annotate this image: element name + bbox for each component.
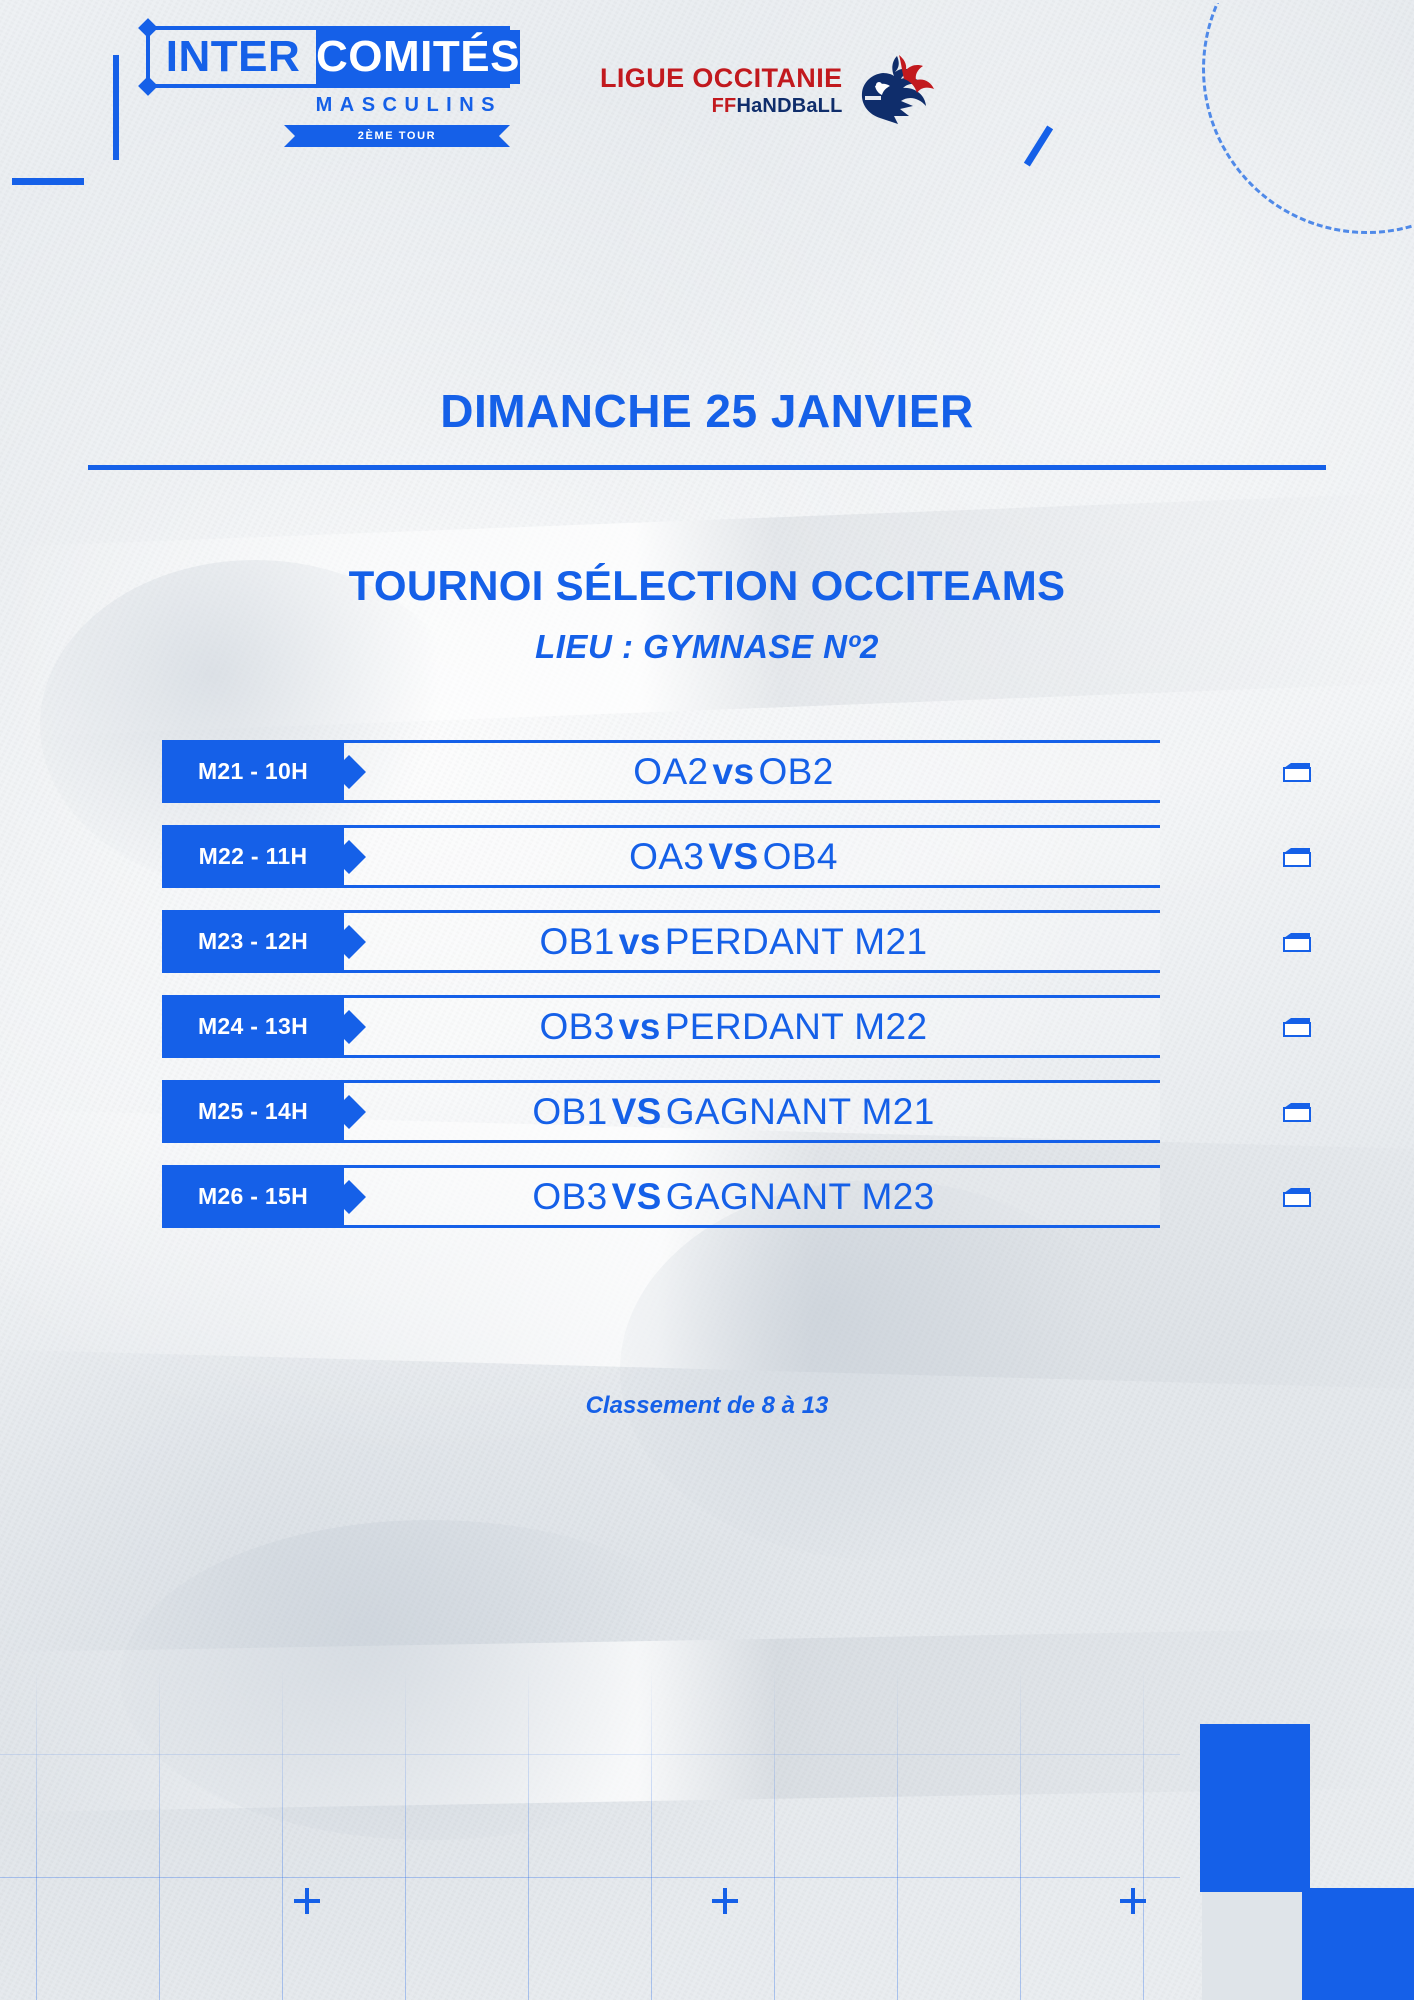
flag-icon xyxy=(1282,929,1312,955)
flag-icon xyxy=(1282,1014,1312,1040)
page-title: DIMANCHE 25 JANVIER xyxy=(0,384,1414,438)
match-row: M24 - 13HOB3vsPERDANT M22 xyxy=(162,995,1258,1058)
match-code-badge: M25 - 14H xyxy=(162,1080,344,1143)
flag-icon xyxy=(1282,1184,1312,1210)
match-row: M26 - 15HOB3VSGAGNANT M23 xyxy=(162,1165,1258,1228)
match-teams: OB3vsPERDANT M22 xyxy=(307,995,1160,1058)
match-row: M21 - 10HOA2vsOB2 xyxy=(162,740,1258,803)
match-team-a: OA3 xyxy=(629,836,704,878)
ffhandball-label: FFHaNDBaLL xyxy=(600,96,843,116)
match-team-b: PERDANT M21 xyxy=(665,921,928,963)
match-team-b: GAGNANT M21 xyxy=(666,1091,935,1133)
ranking-footnote: Classement de 8 à 13 xyxy=(0,1392,1414,1420)
match-teams: OA3VSOB4 xyxy=(307,825,1160,888)
match-code-badge: M24 - 13H xyxy=(162,995,344,1058)
match-vs-label: vs xyxy=(615,1006,665,1048)
match-vs-label: VS xyxy=(608,1176,666,1218)
match-team-a: OB3 xyxy=(539,1006,614,1048)
decorative-square xyxy=(1302,1888,1414,2000)
match-team-b: OB2 xyxy=(758,751,833,793)
match-team-a: OB1 xyxy=(539,921,614,963)
match-vs-label: vs xyxy=(709,751,759,793)
logo-word-comites: COMITÉS xyxy=(316,30,520,84)
match-vs-label: vs xyxy=(615,921,665,963)
match-row: M22 - 11HOA3VSOB4 xyxy=(162,825,1258,888)
match-team-a: OB3 xyxy=(532,1176,607,1218)
logo-ribbon-round: 2ÈME TOUR xyxy=(284,125,510,147)
tournament-title: TOURNOI SÉLECTION OCCITEAMS xyxy=(0,562,1414,610)
handball-label: HaNDBaLL xyxy=(736,95,842,117)
match-teams: OB1vsPERDANT M21 xyxy=(307,910,1160,973)
title-divider xyxy=(88,465,1326,470)
match-vs-label: VS xyxy=(608,1091,666,1133)
venue-label: LIEU : GYMNASE Nº2 xyxy=(0,628,1414,666)
decorative-square xyxy=(1202,1892,1310,2000)
match-code-badge: M23 - 12H xyxy=(162,910,344,973)
match-team-b: PERDANT M22 xyxy=(665,1006,928,1048)
match-teams: OA2vsOB2 xyxy=(307,740,1160,803)
match-team-b: OB4 xyxy=(763,836,838,878)
flag-icon xyxy=(1282,1099,1312,1125)
match-code-badge: M26 - 15H xyxy=(162,1165,344,1228)
ffhb-wordmark: LIGUE OCCITANIE FFHaNDBaLL xyxy=(600,65,843,116)
intercomites-logo: INTER COMITÉS MASCULINS 2ÈME TOUR xyxy=(146,26,510,147)
match-vs-label: VS xyxy=(704,836,762,878)
match-schedule-list: M21 - 10HOA2vsOB2M22 - 11HOA3VSOB4M23 - … xyxy=(162,740,1258,1250)
ligue-occitanie-label: LIGUE OCCITANIE xyxy=(600,65,843,92)
match-code-badge: M22 - 11H xyxy=(162,825,344,888)
ligue-occitanie-logo: LIGUE OCCITANIE FFHaNDBaLL xyxy=(600,52,937,128)
blueprint-grid xyxy=(0,1670,1180,2000)
plus-mark-icon xyxy=(294,1888,320,1914)
logo-subtitle: MASCULINS xyxy=(146,94,510,117)
ff-label: FF xyxy=(712,95,737,117)
match-team-b: GAGNANT M23 xyxy=(666,1176,935,1218)
logo-main-box: INTER COMITÉS xyxy=(146,26,510,88)
rooster-icon xyxy=(853,52,937,128)
match-teams: OB1VSGAGNANT M21 xyxy=(307,1080,1160,1143)
flag-icon xyxy=(1282,759,1312,785)
logo-word-inter: INTER xyxy=(150,30,316,84)
flag-icon xyxy=(1282,844,1312,870)
match-row: M25 - 14HOB1VSGAGNANT M21 xyxy=(162,1080,1258,1143)
decorative-square xyxy=(1200,1724,1310,1892)
plus-mark-icon xyxy=(1120,1888,1146,1914)
plus-mark-icon xyxy=(712,1888,738,1914)
match-code-badge: M21 - 10H xyxy=(162,740,344,803)
match-row: M23 - 12HOB1vsPERDANT M21 xyxy=(162,910,1258,973)
match-team-a: OA2 xyxy=(633,751,708,793)
match-team-a: OB1 xyxy=(532,1091,607,1133)
match-teams: OB3VSGAGNANT M23 xyxy=(307,1165,1160,1228)
